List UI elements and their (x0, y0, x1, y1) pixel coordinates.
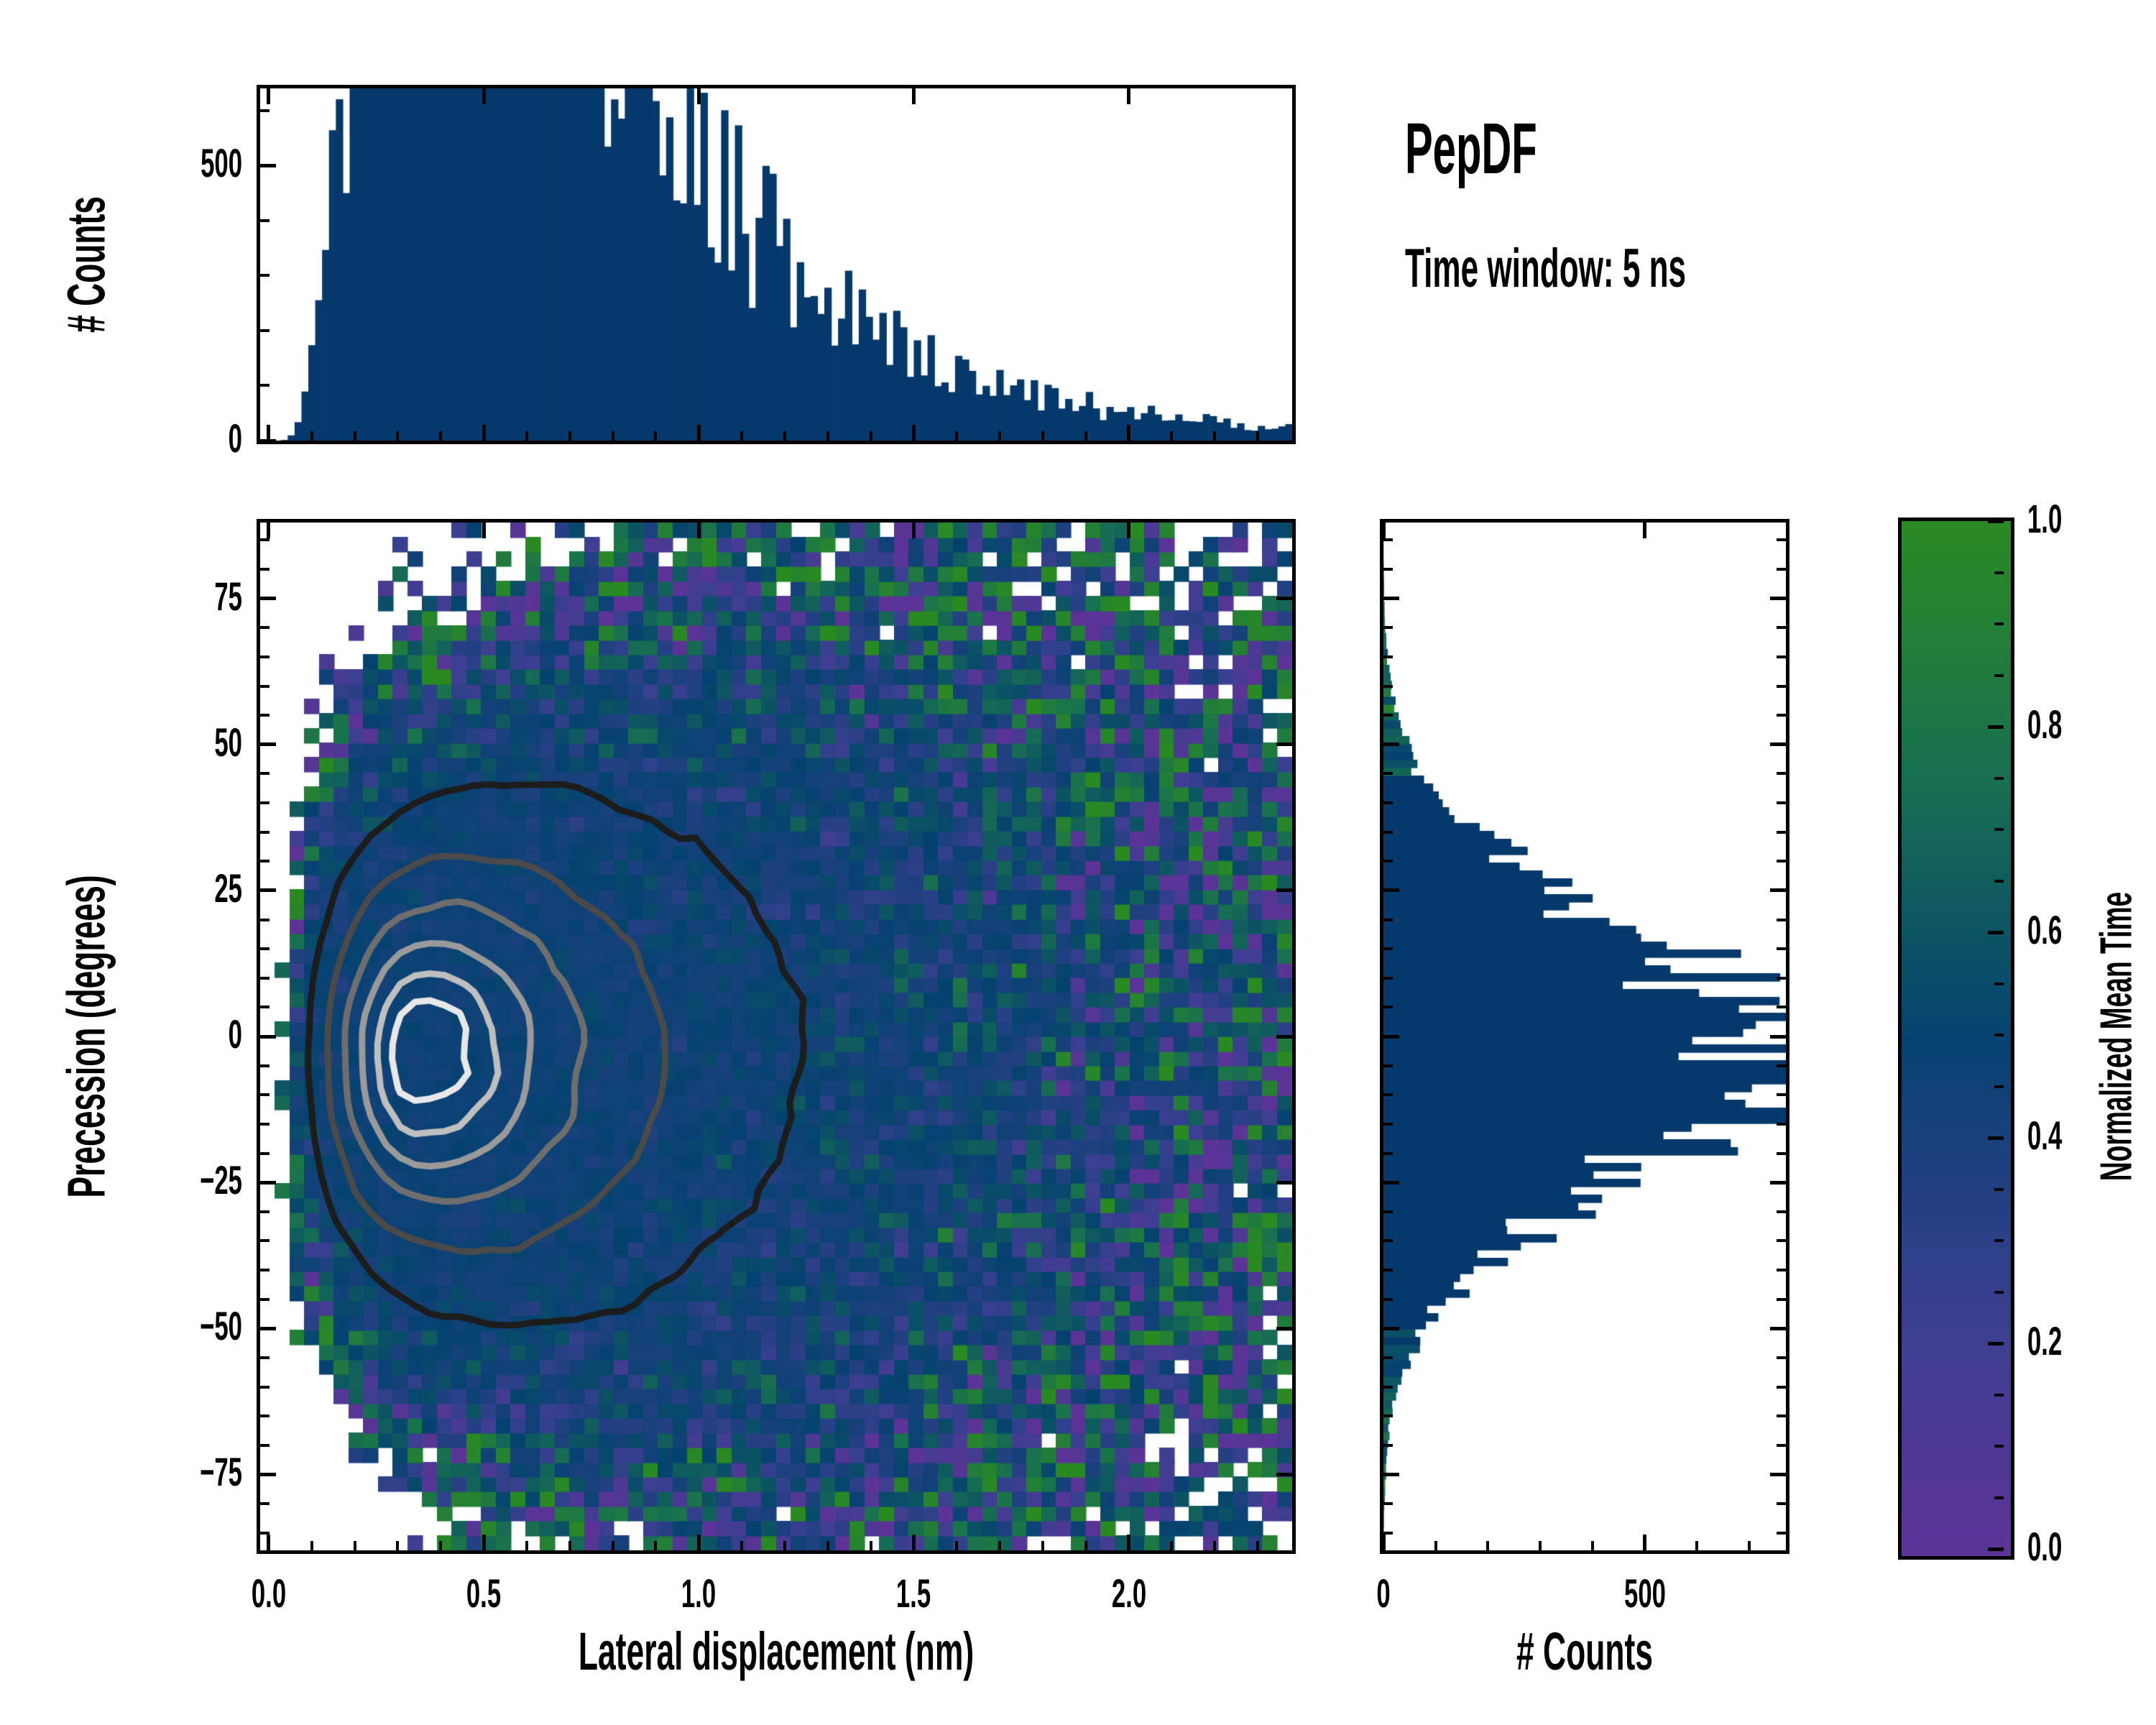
right-ytick-major (1383, 888, 1399, 892)
main-xtick-major (912, 1535, 916, 1550)
main-ytick-minor (260, 626, 269, 629)
main-ytick-right (1276, 597, 1292, 600)
main-yticklabel: −25 (117, 1156, 242, 1203)
main-ytick-minor (260, 860, 269, 862)
top-yticklabel: 0 (117, 415, 242, 461)
right-ytick-minor-r (1777, 801, 1786, 804)
main-ytick-minor (260, 1269, 269, 1271)
main-xtick-major (482, 1535, 486, 1550)
right-ytick-minor (1383, 1210, 1393, 1213)
right-xticklabel: 0 (1330, 1570, 1437, 1616)
right-ytick-minor (1383, 1386, 1393, 1389)
joint-heatmap-canvas (260, 523, 1292, 1550)
right-xtick-top (1382, 523, 1386, 538)
top-xtick-top (482, 88, 486, 104)
right-ytick-minor-r (1777, 1064, 1786, 1067)
main-ytick-major (260, 1327, 276, 1330)
main-yticklabel: −75 (117, 1448, 242, 1495)
colorbar-ticklabel: 0.6 (2027, 906, 2156, 953)
right-ytick-minor-r (1777, 1356, 1786, 1359)
colorbar-tick-minor (1994, 1394, 2004, 1397)
main-ytick-right (1276, 888, 1292, 892)
main-ytick-major (260, 1181, 276, 1184)
right-ytick-minor (1383, 919, 1393, 921)
main-ytick-right (1276, 1181, 1292, 1184)
right-ytick-minor-r (1777, 685, 1786, 688)
right-ytick-minor-r (1777, 1210, 1786, 1213)
right-ytick-major (1383, 1327, 1399, 1330)
right-ytick-minor (1383, 1444, 1393, 1447)
main-xtick-minor (568, 1541, 571, 1550)
right-ytick-major (1383, 742, 1399, 746)
right-ytick-minor (1383, 1502, 1393, 1505)
right-ytick-minor (1383, 1064, 1393, 1067)
right-ytick-right (1770, 888, 1786, 892)
top-xtick-minor (955, 431, 958, 441)
top-xtick-major (482, 425, 486, 441)
colorbar-ticklabel: 1.0 (2027, 495, 2156, 542)
main-xtick-minor (740, 1541, 743, 1550)
main-ytick-minor (260, 1414, 269, 1417)
right-ytick-right (1770, 1181, 1786, 1184)
colorbar-tick-minor (1994, 1188, 2004, 1191)
right-ytick-minor (1383, 1532, 1393, 1535)
top-xtick-minor (612, 431, 614, 441)
top-xtick-major (267, 425, 270, 441)
right-ytick-minor (1383, 1006, 1393, 1008)
right-ytick-minor (1383, 1414, 1393, 1417)
main-ytick-major (260, 1473, 276, 1476)
top-xtick-top (1127, 88, 1130, 104)
right-xtick-top (1643, 523, 1646, 538)
main-xtick-minor (1084, 1541, 1087, 1550)
right-xtick-major (1643, 1535, 1646, 1550)
colorbar-tick-minor (1994, 622, 2004, 625)
right-ytick-right (1770, 597, 1786, 600)
top-xtick-minor (1256, 431, 1259, 441)
right-xtick-minor (1486, 1541, 1489, 1550)
main-ytick-minor (260, 831, 269, 834)
right-ytick-minor (1383, 1298, 1393, 1301)
main-ytick-minor (260, 714, 269, 717)
main-ytick-right (1276, 1035, 1292, 1039)
right-ytick-minor (1383, 714, 1393, 717)
colorbar-tick-minor (1994, 1239, 2004, 1242)
main-xtick-minor (998, 1541, 1001, 1550)
top-yticklabel: 500 (117, 139, 242, 186)
right-ytick-minor-r (1777, 568, 1786, 571)
main-ytick-minor (260, 1298, 269, 1301)
top-xtick-minor (439, 431, 442, 441)
colorbar-tick-minor (1994, 777, 2004, 780)
main-xtick-minor (396, 1541, 399, 1550)
main-xtick-major (267, 1535, 270, 1550)
main-ytick-minor (260, 1006, 269, 1008)
top-xtick-minor (1170, 431, 1173, 441)
right-ytick-minor-r (1777, 626, 1786, 629)
colorbar-ticklabel: 0.4 (2027, 1112, 2156, 1159)
main-xtick-major (697, 1535, 701, 1550)
main-ytick-right (1276, 742, 1292, 746)
top-ytick-major (260, 164, 276, 167)
top-xtick-major (697, 425, 701, 441)
top-xtick-minor (783, 431, 786, 441)
top-xtick-minor (998, 431, 1001, 441)
plot-title: PepDF (1405, 108, 1537, 190)
right-ytick-minor (1383, 772, 1393, 775)
right-ytick-minor-r (1777, 538, 1786, 541)
main-ytick-minor (260, 1239, 269, 1242)
main-ytick-minor (260, 1444, 269, 1447)
main-xtick-top (1127, 523, 1130, 538)
top-xtick-minor (654, 431, 657, 441)
main-xtick-minor (310, 1541, 313, 1550)
right-ytick-minor-r (1777, 1532, 1786, 1535)
top-xtick-top (267, 88, 270, 104)
main-yticklabel: 25 (117, 865, 242, 911)
right-xtick-minor (1434, 1541, 1437, 1550)
main-xtick-minor (826, 1541, 829, 1550)
plot-subtitle: Time window: 5 ns (1405, 237, 1686, 300)
right-ytick-major (1383, 597, 1399, 600)
right-ytick-major (1383, 1181, 1399, 1184)
main-ytick-minor (260, 977, 269, 980)
main-ytick-minor (260, 1502, 269, 1505)
top-xtick-minor (568, 431, 571, 441)
main-ytick-minor (260, 655, 269, 658)
main-yticklabel: −50 (117, 1302, 242, 1349)
right-ytick-minor-r (1777, 947, 1786, 950)
right-ytick-minor-r (1777, 977, 1786, 980)
main-yticklabel: 0 (117, 1011, 242, 1057)
colorbar-tick-major (1988, 1547, 2004, 1551)
right-ytick-minor (1383, 1152, 1393, 1155)
right-ytick-minor (1383, 947, 1393, 950)
main-ytick-minor (260, 1093, 269, 1096)
main-xtick-top (697, 523, 701, 538)
colorbar-tick-minor (1994, 674, 2004, 677)
right-ytick-minor (1383, 860, 1393, 862)
right-xtick-minor (1748, 1541, 1751, 1550)
right-ytick-minor (1383, 831, 1393, 834)
colorbar-tick-minor (1994, 828, 2004, 831)
main-ytick-minor (260, 1532, 269, 1535)
main-xtick-minor (870, 1541, 872, 1550)
top-xtick-minor (1041, 431, 1044, 441)
top-xtick-minor (525, 431, 528, 441)
right-ytick-minor-r (1777, 919, 1786, 921)
colorbar-tick-minor (1994, 1034, 2004, 1036)
top-xtick-minor (1084, 431, 1087, 441)
right-ytick-minor-r (1777, 1444, 1786, 1447)
top-ytick-minor (260, 274, 269, 277)
right-histogram-canvas (1383, 523, 1786, 1550)
main-ytick-minor (260, 1123, 269, 1126)
colorbar-tick-minor (1994, 880, 2004, 883)
right-ytick-minor (1383, 1123, 1393, 1126)
main-xticklabel: 1.5 (860, 1570, 967, 1616)
right-xtick-minor (1591, 1541, 1594, 1550)
main-xticklabel: 1.0 (645, 1570, 752, 1616)
right-ytick-minor (1383, 1093, 1393, 1096)
right-ytick-minor-r (1777, 1123, 1786, 1126)
top-xtick-minor (396, 431, 399, 441)
right-ytick-minor-r (1777, 1414, 1786, 1417)
right-ytick-minor-r (1777, 860, 1786, 862)
right-ytick-minor (1383, 1269, 1393, 1271)
right-ytick-minor (1383, 538, 1393, 541)
top-xtick-minor (740, 431, 743, 441)
top-xtick-minor (310, 431, 313, 441)
main-xticklabel: 2.0 (1075, 1570, 1182, 1616)
right-ytick-minor-r (1777, 1239, 1786, 1242)
main-xtick-top (482, 523, 486, 538)
colorbar-tick-minor (1994, 1445, 2004, 1448)
colorbar-tick-major (1988, 520, 2004, 523)
main-ylabel: Precession (degrees) (56, 875, 117, 1197)
main-ytick-minor (260, 1356, 269, 1359)
main-xtick-minor (1213, 1541, 1216, 1550)
colorbar-ticklabel: 0.0 (2027, 1523, 2156, 1570)
right-ytick-minor-r (1777, 1006, 1786, 1008)
main-xtick-minor (783, 1541, 786, 1550)
right-ytick-right (1770, 1035, 1786, 1039)
main-xtick-minor (525, 1541, 528, 1550)
main-xticklabel: 0.5 (430, 1570, 538, 1616)
main-ytick-minor (260, 947, 269, 950)
top-ytick-minor (260, 329, 269, 332)
right-ytick-minor-r (1777, 1386, 1786, 1389)
colorbar-tick-minor (1994, 1496, 2004, 1499)
right-ytick-minor (1383, 977, 1393, 980)
main-ytick-minor (260, 538, 269, 541)
main-yticklabel: 75 (117, 573, 242, 620)
right-ytick-right (1770, 1473, 1786, 1476)
right-ytick-right (1770, 742, 1786, 746)
main-xtick-top (267, 523, 270, 538)
main-xtick-minor (654, 1541, 657, 1550)
colorbar-tick-minor (1994, 571, 2004, 574)
colorbar-tick-major (1988, 725, 2004, 729)
right-ytick-minor (1383, 1239, 1393, 1242)
right-marginal-histogram-axes (1380, 519, 1789, 1554)
main-xtick-minor (1041, 1541, 1044, 1550)
top-xtick-major (1127, 425, 1130, 441)
main-xtick-minor (955, 1541, 958, 1550)
top-ytick-minor (260, 219, 269, 222)
main-xtick-minor (439, 1541, 442, 1550)
top-histogram-canvas (260, 88, 1292, 441)
top-xtick-top (697, 88, 701, 104)
main-xtick-top (912, 523, 916, 538)
right-ytick-minor (1383, 801, 1393, 804)
colorbar-tick-major (1988, 931, 2004, 934)
main-joint-axes (257, 519, 1296, 1554)
main-yticklabel: 50 (117, 719, 242, 765)
main-xtick-minor (1170, 1541, 1173, 1550)
colorbar-ticklabel: 0.8 (2027, 701, 2156, 747)
right-ytick-minor-r (1777, 1269, 1786, 1271)
right-xtick-minor (1539, 1541, 1542, 1550)
right-ytick-major (1383, 1473, 1399, 1476)
top-xtick-minor (1213, 431, 1216, 441)
right-ytick-minor-r (1777, 1298, 1786, 1301)
main-xtick-minor (354, 1541, 356, 1550)
colorbar-tick-minor (1994, 1085, 2004, 1088)
main-ytick-minor (260, 772, 269, 775)
figure-canvas: # Counts Lateral displacement (nm) Prece… (0, 0, 2156, 1725)
right-xticklabel: 500 (1591, 1570, 1698, 1616)
colorbar-tick-minor (1994, 983, 2004, 985)
right-ytick-minor (1383, 626, 1393, 629)
right-ytick-minor-r (1777, 831, 1786, 834)
right-ytick-minor-r (1777, 1093, 1786, 1096)
top-histogram-ylabel: # Counts (56, 196, 117, 333)
right-xtick-major (1382, 1535, 1386, 1550)
main-ytick-minor (260, 919, 269, 921)
main-xtick-minor (612, 1541, 614, 1550)
right-ytick-minor (1383, 568, 1393, 571)
top-xtick-minor (826, 431, 829, 441)
right-ytick-major (1383, 1035, 1399, 1039)
main-ytick-major (260, 1035, 276, 1039)
right-ytick-right (1770, 1327, 1786, 1330)
main-ytick-minor (260, 1210, 269, 1213)
right-ytick-minor (1383, 655, 1393, 658)
top-xtick-minor (870, 431, 872, 441)
colorbar-tick-minor (1994, 1291, 2004, 1294)
right-ytick-minor-r (1777, 1502, 1786, 1505)
colorbar-ticklabel: 0.2 (2027, 1317, 2156, 1364)
colorbar-tick-major (1988, 1136, 2004, 1140)
right-ytick-minor-r (1777, 772, 1786, 775)
main-xticklabel: 0.0 (216, 1570, 323, 1616)
top-xtick-top (912, 88, 916, 104)
main-ytick-major (260, 742, 276, 746)
main-ytick-minor (260, 568, 269, 571)
main-ytick-minor (260, 1152, 269, 1155)
colorbar-tick-major (1988, 1342, 2004, 1345)
top-xtick-minor (354, 431, 356, 441)
right-ytick-minor-r (1777, 1152, 1786, 1155)
right-ytick-minor-r (1777, 714, 1786, 717)
right-ytick-minor (1383, 1356, 1393, 1359)
main-ytick-minor (260, 1064, 269, 1067)
right-ytick-minor (1383, 685, 1393, 688)
right-histogram-xlabel: # Counts (1516, 1621, 1653, 1682)
top-marginal-histogram-axes (257, 85, 1296, 444)
main-ytick-major (260, 888, 276, 892)
top-xtick-major (912, 425, 916, 441)
top-ytick-minor (260, 384, 269, 387)
main-ytick-right (1276, 1327, 1292, 1330)
main-xtick-major (1127, 1535, 1130, 1550)
main-ytick-minor (260, 801, 269, 804)
right-ytick-minor-r (1777, 655, 1786, 658)
main-xtick-minor (1256, 1541, 1259, 1550)
main-ytick-right (1276, 1473, 1292, 1476)
main-ytick-major (260, 597, 276, 600)
main-xlabel: Lateral displacement (nm) (579, 1621, 974, 1682)
top-ytick-minor (260, 109, 269, 112)
main-ytick-minor (260, 685, 269, 688)
main-ytick-minor (260, 1386, 269, 1389)
right-xtick-minor (1695, 1541, 1698, 1550)
